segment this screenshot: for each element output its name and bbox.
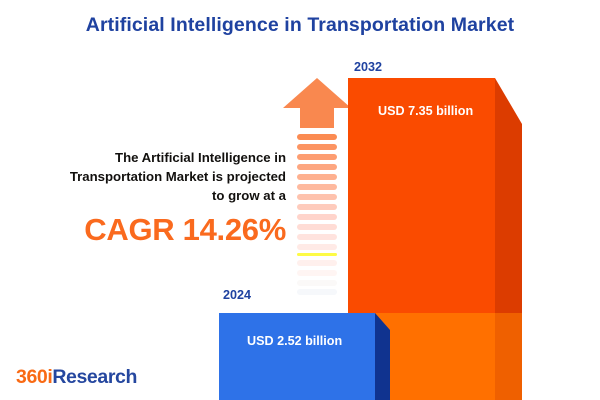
arrow-segment [297, 194, 337, 200]
bar-value-label-2032: USD 7.35 billion [378, 104, 473, 118]
arrow-segment [297, 244, 337, 250]
caption-text: The Artificial Intelligence in Transport… [24, 148, 286, 205]
growth-arrow-icon [281, 76, 353, 292]
arrow-segment [297, 289, 337, 295]
bar-2024-front-face: USD 2.52 billion [219, 313, 375, 400]
caption-block: The Artificial Intelligence in Transport… [24, 148, 286, 247]
page-title: Artificial Intelligence in Transportatio… [0, 14, 600, 37]
arrow-segment [297, 134, 337, 140]
arrow-segment [297, 280, 337, 286]
arrow-segment [297, 144, 337, 150]
arrow-segment [297, 270, 337, 276]
arrow-segment [297, 224, 337, 230]
caption-line-1: The Artificial Intelligence in [24, 148, 286, 167]
arrow-segment [297, 214, 337, 220]
arrow-segment-highlight [297, 253, 337, 256]
arrow-segment [297, 164, 337, 170]
arrow-segment [297, 260, 337, 266]
bar-2024: USD 2.52 billion [219, 313, 390, 400]
bar-value-label-2024: USD 2.52 billion [247, 334, 342, 348]
brand-logo: 360iResearch [16, 366, 137, 389]
arrow-segment [297, 154, 337, 160]
arrow-segment [297, 204, 337, 210]
bar-year-label-2032: 2032 [354, 60, 382, 74]
arrow-segment [297, 234, 337, 240]
brand-logo-prefix: 360i [16, 366, 52, 388]
cagr-value: CAGR 14.26% [24, 214, 286, 247]
bar-2032-side-lower-band [495, 313, 522, 400]
caption-line-3: to grow at a [24, 186, 286, 205]
infographic-canvas: Artificial Intelligence in Transportatio… [0, 0, 600, 400]
arrow-segment [297, 174, 337, 180]
brand-logo-suffix: Research [52, 366, 137, 388]
arrow-segment [297, 184, 337, 190]
arrow-up-icon [281, 76, 353, 130]
bar-2024-side-face [375, 313, 390, 400]
bar-year-label-2024: 2024 [223, 288, 251, 302]
caption-line-2: Transportation Market is projected [24, 167, 286, 186]
